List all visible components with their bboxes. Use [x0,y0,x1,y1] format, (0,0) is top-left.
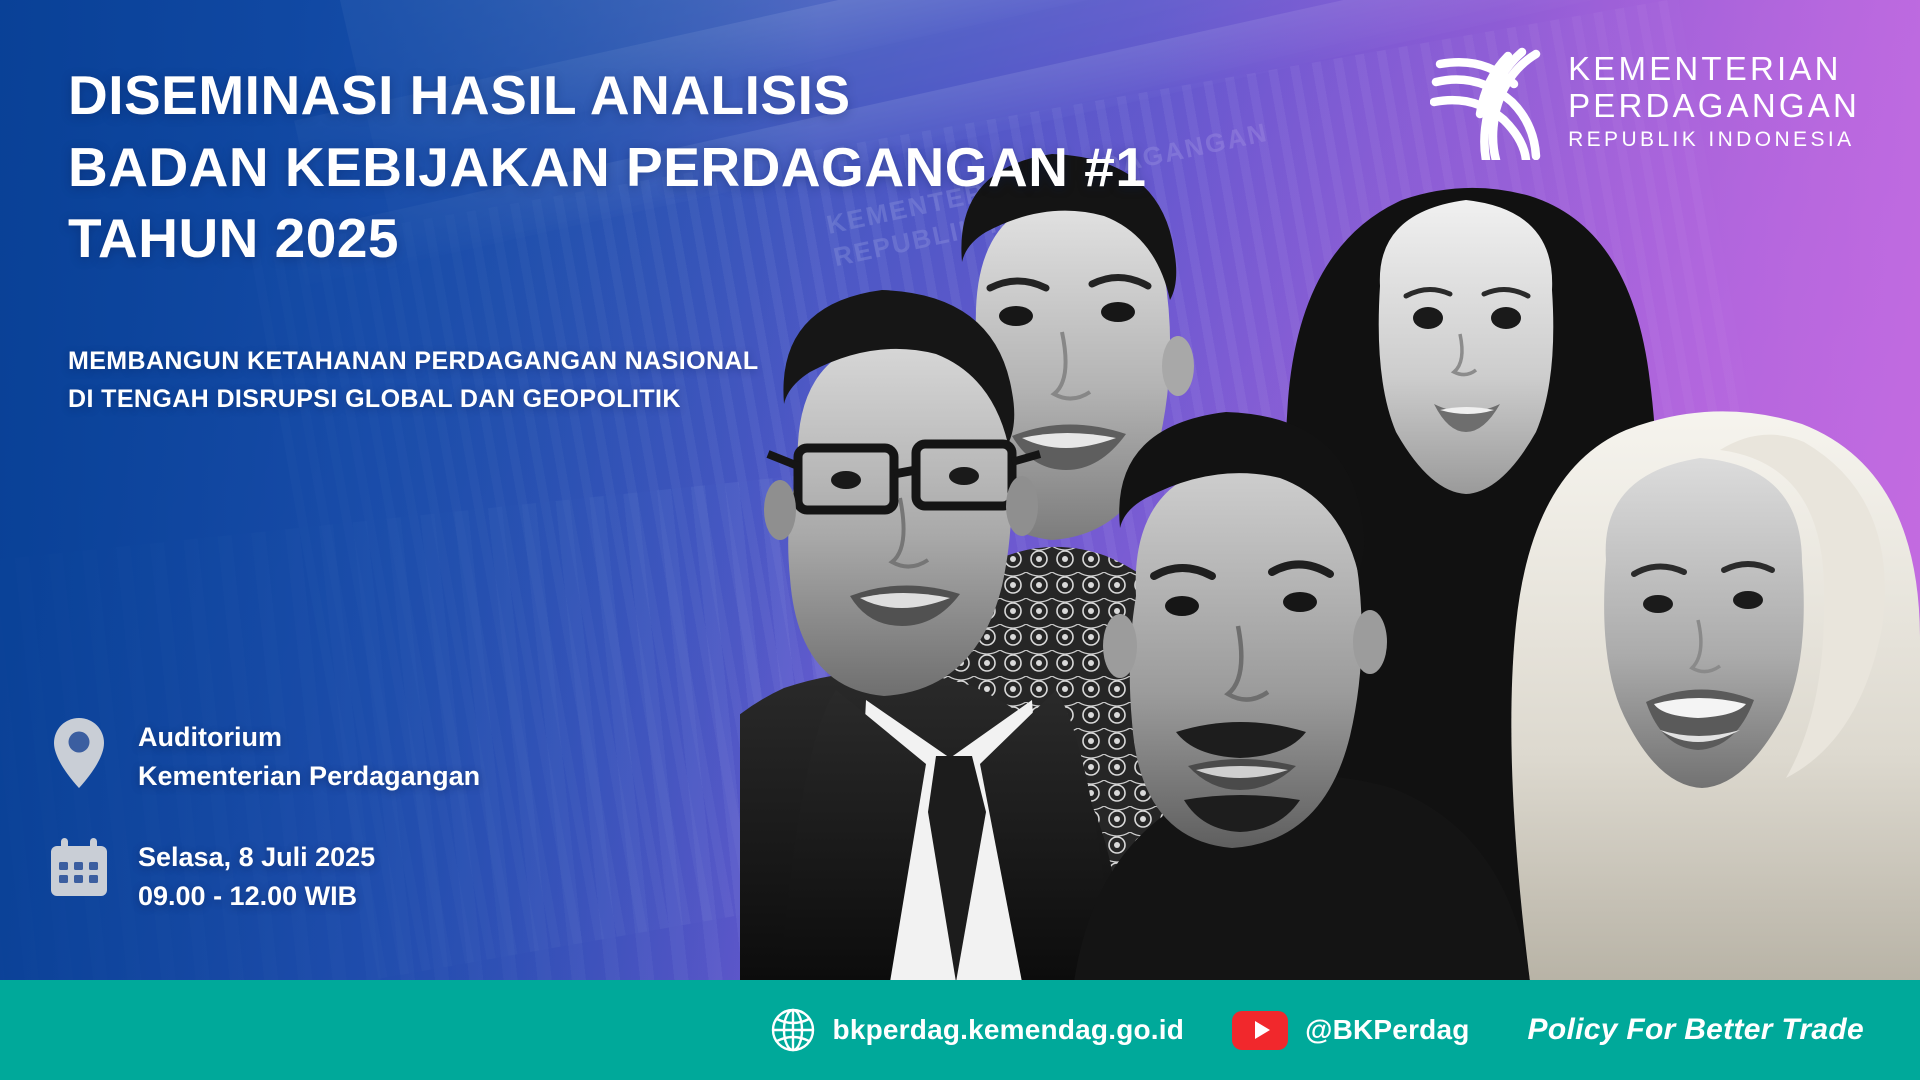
event-datetime: Selasa, 8 Juli 2025 09.00 - 12.00 WIB [46,832,480,916]
date-line-1: Selasa, 8 Juli 2025 [138,838,375,877]
subheadline-line-2: DI TENGAH DISRUPSI GLOBAL DAN GEOPOLITIK [68,380,1068,418]
footer-youtube-label: @BKPerdag [1305,1014,1469,1046]
event-poster: KEMENTERIAN PERDAGANGAN REPUBLIK INDONES… [0,0,1920,1080]
footer-website-label: bkperdag.kemendag.go.id [833,1014,1185,1046]
logo-line-1: KEMENTERIAN [1568,52,1860,85]
location-line-2: Kementerian Perdagangan [138,757,480,796]
headline-line-1: DISEMINASI HASIL ANALISIS [68,60,1188,132]
footer-tagline: Policy For Better Trade [1528,1013,1864,1047]
subheadline-line-1: MEMBANGUN KETAHANAN PERDAGANGAN NASIONAL [68,342,1068,380]
event-datetime-text: Selasa, 8 Juli 2025 09.00 - 12.00 WIB [138,832,375,916]
poster-subheadline: MEMBANGUN KETAHANAN PERDAGANGAN NASIONAL… [68,342,1068,418]
logo-line-2: PERDAGANGAN [1568,89,1860,122]
kemendag-weave-logo-icon [1430,42,1542,160]
event-location-text: Auditorium Kementerian Perdagangan [138,712,480,796]
headline-line-2: BADAN KEBIJAKAN PERDAGANGAN #1 [68,132,1188,204]
event-info: Auditorium Kementerian Perdagangan [46,712,480,916]
footer-website[interactable]: bkperdag.kemendag.go.id [770,1007,1185,1053]
calendar-icon [46,832,112,898]
speaker-5-portrait [1511,411,1920,982]
poster-headline: DISEMINASI HASIL ANALISIS BADAN KEBIJAKA… [68,60,1188,275]
youtube-icon [1232,1011,1288,1050]
footer-youtube[interactable]: @BKPerdag [1232,1011,1469,1050]
map-pin-icon [46,712,112,790]
date-line-2: 09.00 - 12.00 WIB [138,877,375,916]
event-location: Auditorium Kementerian Perdagangan [46,712,480,796]
poster-footer: bkperdag.kemendag.go.id @BKPerdag Policy… [0,980,1920,1080]
logo-line-3: REPUBLIK INDONESIA [1568,129,1860,150]
ministry-logo-text: KEMENTERIAN PERDAGANGAN REPUBLIK INDONES… [1568,52,1860,150]
location-line-1: Auditorium [138,718,480,757]
globe-icon [770,1007,816,1053]
headline-line-3: TAHUN 2025 [68,203,1188,275]
ministry-logo: KEMENTERIAN PERDAGANGAN REPUBLIK INDONES… [1430,42,1860,160]
